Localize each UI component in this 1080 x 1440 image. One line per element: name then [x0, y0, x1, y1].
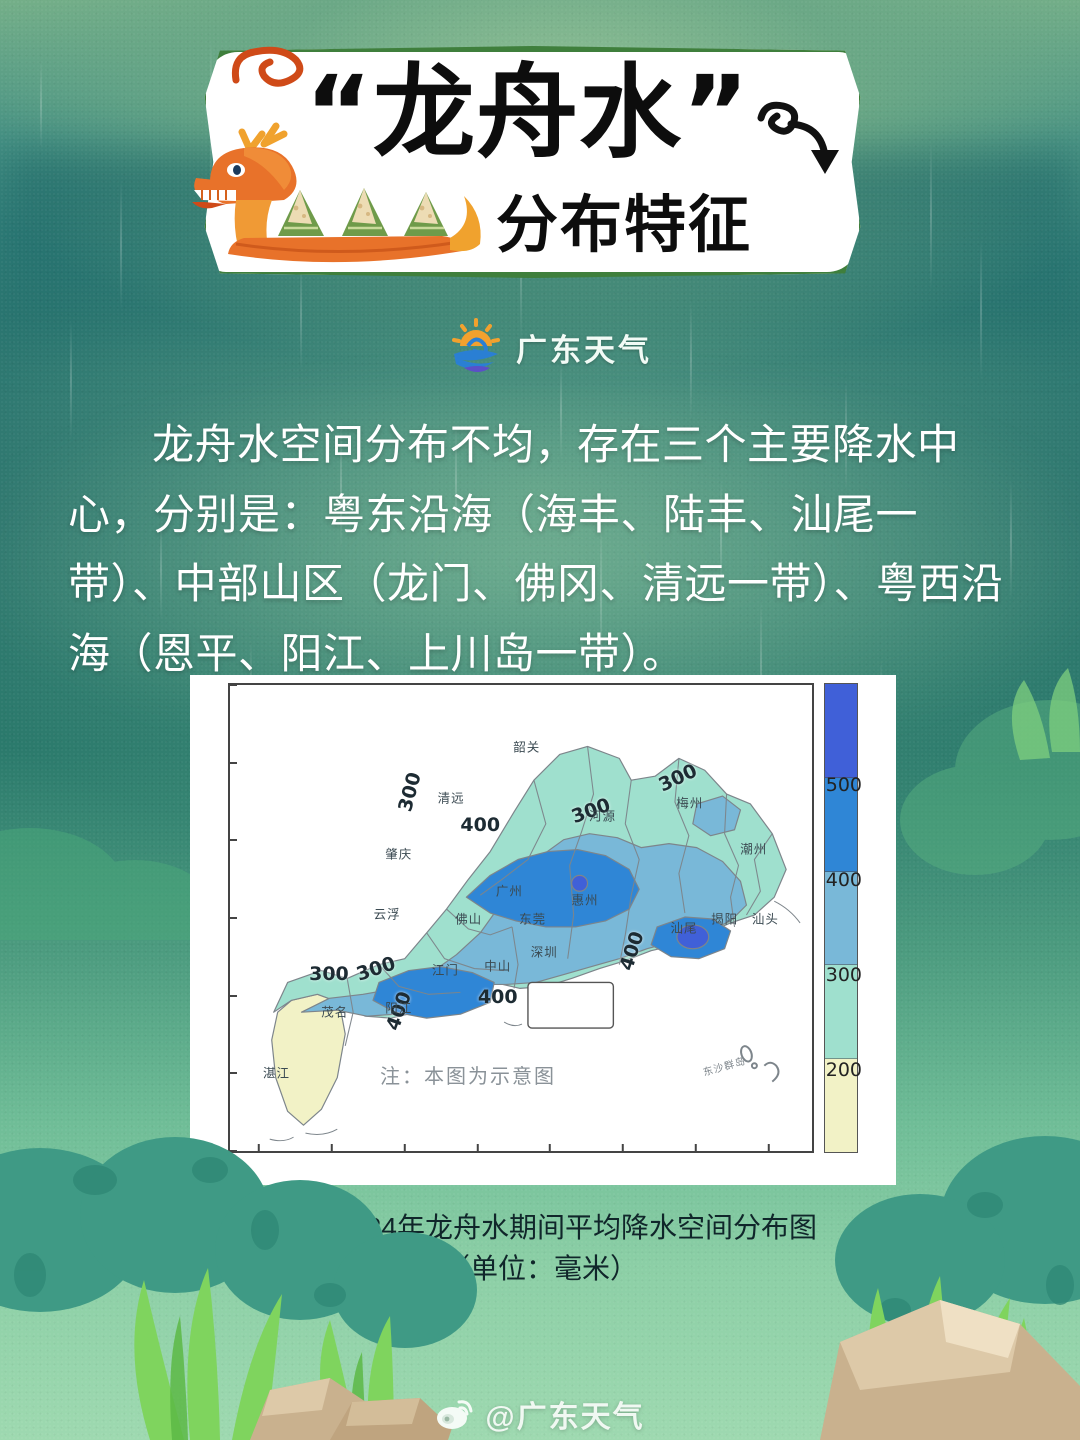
sun-wave-weather-icon: [448, 316, 504, 378]
city-label: 湛江: [263, 1062, 290, 1081]
city-label: 清远: [438, 787, 465, 806]
curved-arrow-icon: [751, 98, 847, 182]
colorbar-tick-300: 300: [826, 964, 862, 986]
contour-label: 300: [309, 963, 349, 985]
y-axis-tick: 23: [228, 908, 230, 928]
city-label: 肇庆: [385, 843, 412, 862]
precipitation-map-figure: 300 400 300 300 400 300 300 400 400 韶关 清…: [190, 675, 896, 1185]
city-label: 云浮: [374, 904, 401, 923]
y-axis-tick: 25: [228, 753, 230, 773]
city-label: 中山: [484, 955, 511, 974]
city-label: 惠州: [572, 890, 599, 909]
city-label: 河源: [589, 806, 616, 825]
dragon-boat-icon: [192, 104, 492, 284]
map-colorbar: [824, 683, 858, 1153]
colorbar-band-above-500: [825, 684, 857, 778]
map-note: 注：本图为示意图: [380, 1060, 556, 1089]
logo-text: 广东天气: [516, 325, 652, 370]
city-label: 佛山: [455, 909, 482, 928]
city-label: 茂名: [321, 1002, 348, 1021]
title-banner: “龙舟水” 分布特征: [200, 46, 865, 278]
city-label: 汕头: [752, 909, 779, 928]
city-label: 阳江: [385, 997, 412, 1016]
brand-logo: 广东天气: [448, 316, 652, 378]
city-label: 揭阳: [711, 909, 738, 928]
city-label: 汕尾: [670, 918, 697, 937]
bottom-foliage-decor: [0, 1110, 1080, 1440]
weibo-icon: [435, 1398, 475, 1430]
contour-label: 400: [478, 986, 518, 1008]
map-plot-area: 300 400 300 300 400 300 300 400 400 韶关 清…: [228, 683, 814, 1153]
city-label: 江门: [432, 960, 459, 979]
colorbar-tick-400: 400: [826, 869, 862, 891]
weibo-watermark: @广东天气: [0, 1392, 1080, 1436]
colorbar-tick-500: 500: [826, 774, 862, 796]
city-label: 深圳: [531, 941, 558, 960]
title-sub: 分布特征: [496, 174, 752, 264]
city-label: 东莞: [519, 909, 546, 928]
city-label: 潮州: [740, 839, 767, 858]
y-axis-tick: 22: [228, 986, 230, 1006]
y-axis-tick: 24: [228, 830, 230, 850]
contour-label: 400: [460, 814, 500, 836]
city-label: 韶关: [513, 736, 540, 755]
y-axis-tick: 26: [228, 683, 230, 695]
y-axis-tick: 21: [228, 1063, 230, 1083]
colorbar-tick-200: 200: [826, 1059, 862, 1081]
watermark-text: @广东天气: [485, 1392, 644, 1436]
poster-root: “龙舟水” 分布特征: [0, 0, 1080, 1440]
city-label: 梅州: [676, 792, 703, 811]
city-label: 广州: [496, 881, 523, 900]
body-paragraph: 龙舟水空间分布不均，存在三个主要降水中心，分别是：粤东沿海（海丰、陆丰、汕尾一带…: [68, 410, 1018, 689]
